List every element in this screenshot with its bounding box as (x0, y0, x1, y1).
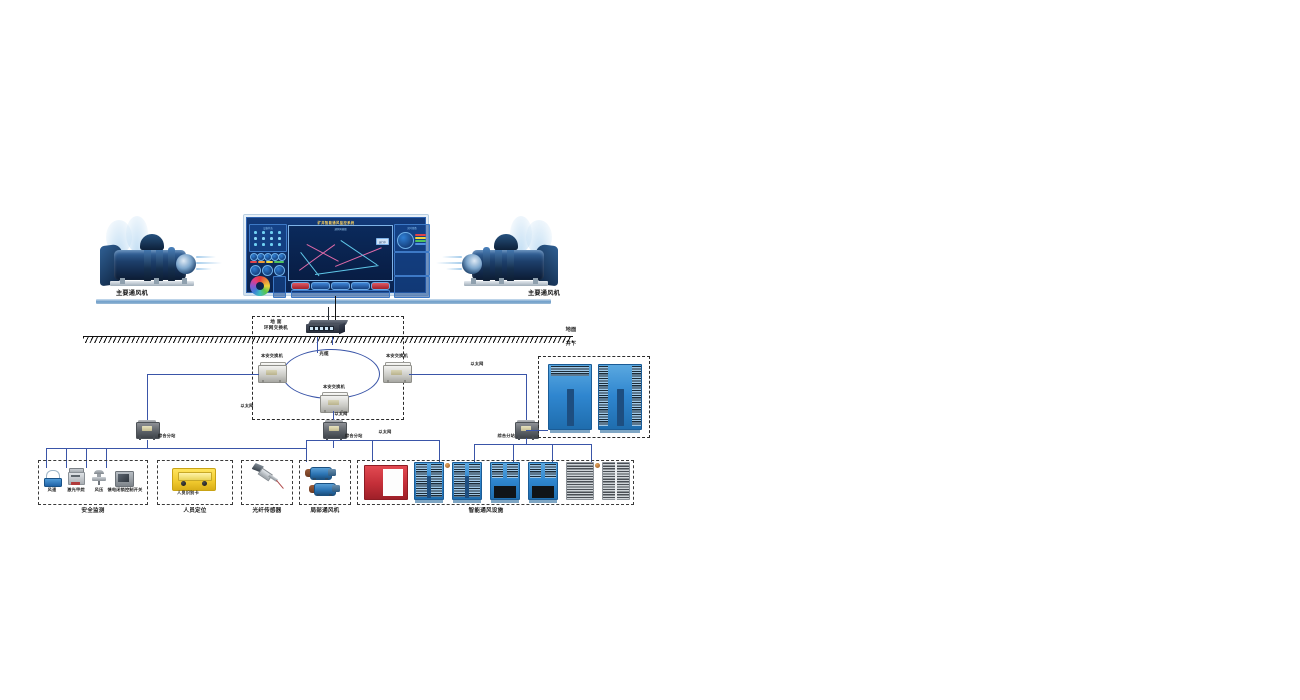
local-fan-icon[interactable] (305, 466, 336, 479)
substation-window (142, 426, 152, 431)
dashboard-color-wheel-icon (250, 276, 270, 296)
door-louver (530, 464, 541, 478)
integrated-substation-mid-label: 综合分站 (345, 434, 373, 439)
main-fan-right (458, 232, 558, 288)
switch-leg (404, 380, 406, 383)
wire-left-horizontal (147, 374, 259, 375)
dashboard-ring-gauge (274, 265, 285, 276)
fan-foot-icon (499, 278, 504, 284)
intrinsically-safe-switch-bottom-label: 本安交换机 (318, 385, 350, 390)
switch-port-icon (329, 326, 334, 331)
dashboard-bar (415, 237, 426, 239)
status-dot (262, 243, 265, 246)
air-regulator-red-icon[interactable] (364, 465, 408, 500)
intrinsically-safe-switch-left[interactable] (258, 362, 285, 383)
substation-leg (153, 436, 155, 440)
dashboard-bar (266, 261, 273, 263)
fan-foot-icon (154, 278, 159, 284)
substation-window (329, 426, 339, 431)
fan-hub-icon (176, 254, 196, 274)
equipment-platform (96, 299, 551, 304)
safety-monitoring-group-label: 安全监测 (60, 508, 126, 514)
fiber-optic-sensor-group-label: 光纤传感器 (234, 508, 300, 514)
fiber-lead (276, 480, 284, 489)
dashboard-right-table (394, 252, 430, 276)
bus-right-feed (526, 438, 527, 445)
fan-ring-icon (507, 247, 514, 283)
status-dot (262, 231, 265, 234)
door-louver (416, 464, 427, 497)
fan-airflow-icon (196, 268, 212, 270)
main-fan-left-label: 主要通风机 (101, 290, 163, 297)
underground-label: 井下 (558, 342, 584, 348)
dashboard-right-table-2 (394, 276, 430, 298)
dashboard-bottom-button[interactable] (291, 282, 310, 290)
methane-base (71, 482, 80, 485)
dashboard-ring-gauge (262, 265, 273, 276)
personnel-id-card-label: 人员识别卡 (166, 491, 210, 496)
bus-center-feed (333, 440, 334, 448)
switch-leg (324, 410, 326, 413)
dashboard-bottom-button[interactable] (311, 282, 330, 290)
dashboard-network-plot: 通风网络图 运行中 (288, 225, 393, 281)
plot-trace (307, 244, 339, 262)
smart-ventilation-facility-group-label: 智能通风设施 (438, 508, 534, 514)
dashboard-legend-strip (273, 276, 286, 298)
fan-foot-icon (471, 278, 476, 284)
dashboard-left-panel-title: 设备状态 (250, 226, 286, 230)
status-dot (262, 237, 265, 240)
dashboard-bar (258, 261, 265, 263)
door-louver (632, 366, 641, 426)
personnel-id-card-icon[interactable] (172, 468, 216, 491)
intrinsically-safe-switch-left-label: 本安交换机 (256, 354, 288, 359)
fan-foot (329, 494, 332, 497)
door-slot (427, 476, 431, 497)
anemometer-label: 风速 (42, 488, 62, 493)
status-dot (254, 237, 257, 240)
anemometer-icon[interactable] (44, 470, 60, 486)
bus-drop (439, 440, 440, 462)
bus-left-feed (147, 440, 148, 449)
door-sensor-ball-icon (445, 463, 450, 468)
wire-right-vertical (526, 374, 527, 422)
fan-foot (317, 494, 320, 497)
anemometer-base (44, 478, 62, 487)
switch-window (266, 370, 277, 375)
status-dot (278, 243, 281, 246)
wire-right-horizontal (409, 374, 527, 375)
fan-ring-icon (144, 247, 151, 283)
id-card-button[interactable] (181, 481, 186, 486)
dashboard-bar (250, 261, 257, 263)
dashboard-bar (415, 240, 426, 242)
switch-window (391, 370, 402, 375)
substation-leg (518, 436, 520, 440)
door-slot (617, 389, 623, 426)
fiber-cable (332, 337, 333, 345)
status-dot (278, 231, 281, 234)
fan-airflow-icon (446, 268, 462, 270)
door-louver (431, 464, 442, 497)
switch-window (328, 400, 339, 405)
door-slot (465, 476, 469, 497)
local-fan-icon[interactable] (309, 482, 340, 495)
pressure-sensor-label: 风压 (89, 488, 109, 493)
methane-screen (71, 475, 80, 477)
bus-drop (372, 440, 373, 462)
fan-airflow-icon (436, 262, 462, 264)
fan-foot (325, 478, 328, 481)
dashboard-bottom-button[interactable] (371, 282, 390, 290)
fan-hub-icon (462, 254, 482, 274)
wire-left-vertical (147, 374, 148, 422)
ventilation-door-blue-louver-icon[interactable] (598, 364, 642, 430)
integrated-substation-left[interactable] (136, 420, 158, 440)
door-opening (532, 486, 554, 499)
door-louver (599, 366, 608, 426)
ethernet-label-bottom: 以太网 (374, 430, 396, 435)
local-fan-group-label: 局部通风机 (292, 508, 358, 514)
dashboard-gauge (278, 253, 286, 261)
ground-ring-switch[interactable] (306, 320, 347, 337)
door-opening (494, 486, 516, 499)
antenna-icon (328, 307, 329, 321)
ventilation-door-blue-icon[interactable] (452, 462, 482, 500)
status-dot (270, 243, 273, 246)
fan-airflow-icon (442, 256, 462, 258)
dashboard-bottom-button[interactable] (331, 282, 350, 290)
feeder-panel (118, 474, 129, 482)
door-louver (551, 366, 589, 376)
feeder-lock-switch-label: 馈电闭锁控制开关 (107, 488, 143, 493)
fan-foot-icon (533, 278, 538, 284)
methane-sensor-icon[interactable] (68, 468, 84, 486)
status-dot (254, 243, 257, 246)
door-slot (567, 389, 573, 426)
window-split (615, 462, 616, 500)
substation-leg (532, 436, 534, 440)
fan-foot-icon (120, 278, 125, 284)
door-sill (529, 500, 557, 503)
integrated-substation-right-label: 综合分站 (487, 434, 515, 439)
door-sill (415, 500, 443, 503)
dashboard-ring-gauge (250, 265, 261, 276)
regulator-window (383, 469, 402, 496)
dashboard-donut-gauge (397, 232, 414, 249)
fan-motor (332, 485, 340, 492)
id-card-screen (178, 472, 212, 481)
dashboard-plot-title: 通风网络图 (289, 227, 392, 231)
substation-leg (139, 436, 141, 440)
methane-sensor-label: 激光甲烷 (63, 488, 89, 493)
dashboard-left-panel: 设备状态 (249, 224, 287, 252)
plot-status-badge: 运行中 (376, 238, 389, 245)
switch-leg (279, 380, 281, 383)
dashboard-right-panel-title: 实时参数 (395, 226, 429, 230)
intrinsically-safe-switch-right-label: 本安交换机 (381, 354, 413, 359)
main-fan-left (100, 232, 200, 288)
pressure-sensor-icon[interactable] (92, 470, 106, 486)
fan-foot (313, 478, 316, 481)
id-card-button[interactable] (202, 481, 207, 486)
fan-foot-icon (182, 278, 187, 284)
ground-ring-switch-label-line1: 地 面 (256, 320, 296, 325)
switch-leg (262, 380, 264, 383)
integrated-substation-left-label: 综合分站 (158, 434, 186, 439)
ground-label: 地面 (558, 328, 584, 334)
pressure-pin (98, 481, 100, 485)
door-louver (507, 464, 518, 478)
status-dot (278, 237, 281, 240)
personnel-positioning-group-label: 人员定位 (162, 508, 228, 514)
dashboard-canvas: 矿井智能通风监控系统 设备状态 (246, 217, 426, 293)
switch-side-face (339, 323, 345, 334)
fan-ring-icon (483, 247, 490, 283)
window-frame (566, 462, 594, 500)
fan-scoop-icon (140, 234, 164, 250)
bus-right (474, 444, 592, 445)
ground-ring-switch-label-line2: 环网交换机 (256, 326, 296, 331)
dashboard-bar (274, 261, 284, 263)
intrinsically-safe-switch-bottom[interactable] (320, 392, 347, 413)
door-sill (600, 430, 641, 433)
door-sill (550, 430, 591, 433)
intrinsically-safe-switch-right[interactable] (383, 362, 410, 383)
bus-drop (306, 440, 307, 462)
switch-leg (387, 380, 389, 383)
feeder-lock-switch-icon[interactable] (115, 470, 133, 486)
fan-motor (328, 469, 336, 476)
door-louver (454, 464, 465, 497)
ventilation-door-blue-dark-icon[interactable] (528, 462, 558, 500)
ventilation-door-blue-dark-icon[interactable] (490, 462, 520, 500)
ventilation-topology-diagram: 主要通风机 主要通风机 矿井智能通风监控系统 设备状态 (0, 0, 1300, 700)
integrated-substation-mid[interactable] (323, 420, 345, 440)
status-dot (254, 231, 257, 234)
plot-trace (315, 265, 378, 275)
air-window-grey-icon[interactable] (566, 462, 594, 500)
ethernet-label-left: 以太网 (236, 404, 258, 409)
door-louver (469, 464, 480, 497)
bus-left (46, 448, 306, 449)
door-louver (545, 464, 556, 478)
door-louver (492, 464, 503, 478)
status-dot (270, 231, 273, 234)
wire-to-underground-doors (526, 430, 548, 431)
door-sensor-ball-icon (595, 463, 600, 468)
fan-ring-icon (168, 247, 175, 283)
status-dot (270, 237, 273, 240)
fan-airflow-icon (196, 262, 222, 264)
air-window-grey-split-icon[interactable] (602, 462, 630, 500)
dashboard-right-panel: 实时参数 (394, 224, 430, 252)
dashboard-bar (415, 234, 426, 236)
main-fan-right-label: 主要通风机 (513, 290, 575, 297)
dashboard-bottom-button[interactable] (351, 282, 370, 290)
dashboard-ticker (291, 290, 390, 298)
ventilation-door-blue-icon[interactable] (548, 364, 592, 430)
door-sill (491, 500, 519, 503)
ventilation-door-blue-icon[interactable] (414, 462, 444, 500)
ethernet-label-right-inner: 以太网 (466, 362, 488, 367)
dashboard-bar (415, 243, 426, 245)
fan-airflow-icon (196, 256, 216, 258)
door-sill (453, 500, 481, 503)
monitoring-dashboard-screen[interactable]: 矿井智能通风监控系统 设备状态 (243, 214, 429, 296)
